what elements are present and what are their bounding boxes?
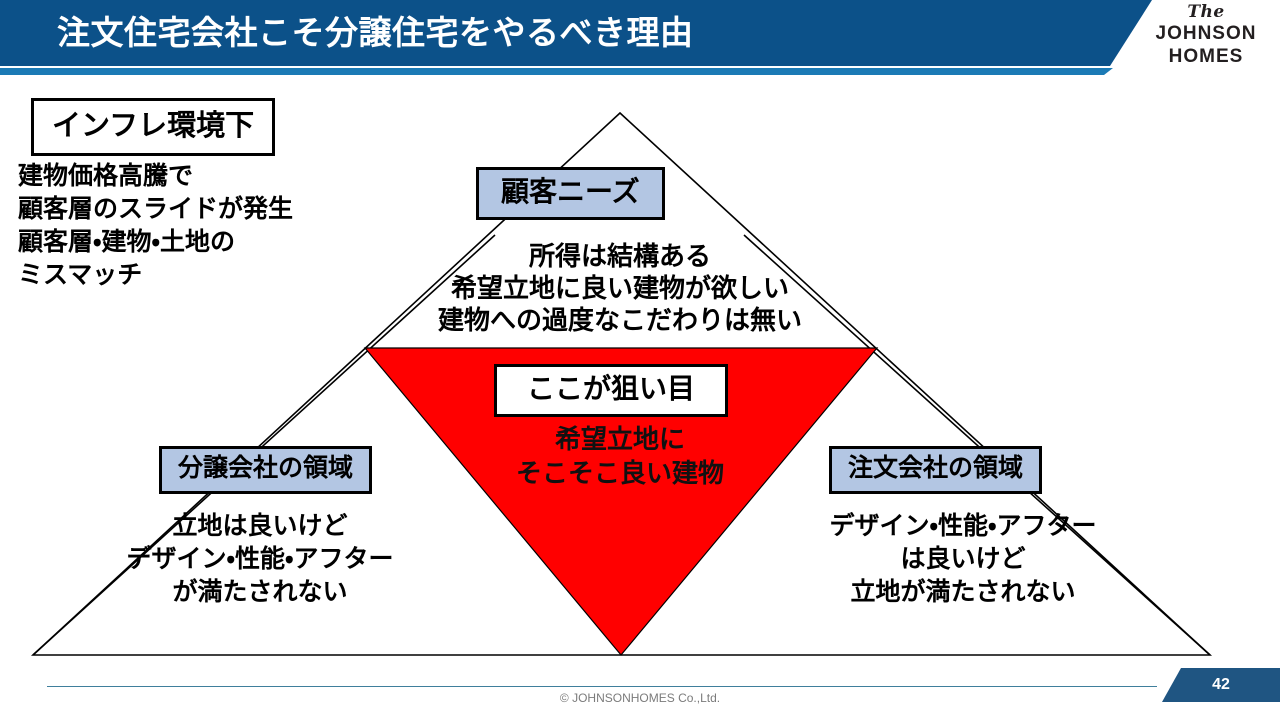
header-accent-bar (0, 68, 1120, 75)
logo-script-word: The (1150, 2, 1262, 22)
target-zone-label: ここが狙い目 (494, 364, 728, 417)
copyright-text: © JOHNSONHOMES Co.,Ltd. (0, 691, 1280, 705)
footer-divider (47, 686, 1157, 687)
logo-name-line1: JOHNSON (1150, 22, 1262, 45)
left-segment-description: 立地は良いけど デザイン・性能・アフター が満たされない (70, 510, 450, 609)
customer-needs-description: 所得は結構ある 希望立地に良い建物が欲しい 建物への過度なこだわりは無い (380, 240, 860, 336)
right-segment-description: デザイン・性能・アフター は良いけど 立地が満たされない (748, 510, 1178, 609)
target-zone-description: 希望立地に そこそこ良い建物 (470, 422, 770, 490)
customer-needs-label: 顧客ニーズ (476, 167, 665, 220)
company-logo: The JOHNSON HOMES (1150, 2, 1262, 68)
logo-name-line2: HOMES (1150, 45, 1262, 68)
left-segment-label: 分譲会社の領域 (159, 446, 372, 494)
right-segment-label: 注文会社の領域 (829, 446, 1042, 494)
inflation-description: 建物価格高騰で 顧客層のスライドが発生 顧客層・建物・土地の ミスマッチ (18, 160, 293, 292)
inflation-badge: インフレ環境下 (31, 98, 275, 156)
page-title: 注文住宅会社こそ分譲住宅をやるべき理由 (57, 10, 1097, 56)
page-number: 42 (1162, 668, 1280, 702)
